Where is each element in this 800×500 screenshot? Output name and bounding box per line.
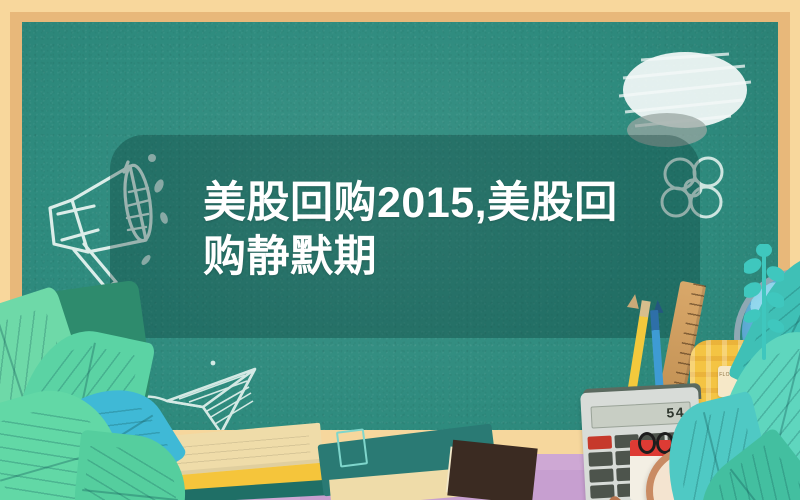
open-book-cover [447,440,537,500]
book-center-label [336,428,368,467]
fern-sprig-icon [744,244,784,364]
calculator-key [589,468,613,482]
calculator-key [588,452,612,466]
pencil-tip-icon [627,293,641,309]
poster-canvas: 美股回购2015,美股回购静默期 FLORAL SUPPLIES 54 [0,0,800,500]
calculator-key-ac [587,436,611,450]
page-title: 美股回购2015,美股回购静默期 [203,176,623,284]
leaf-mint-4 [69,430,191,500]
